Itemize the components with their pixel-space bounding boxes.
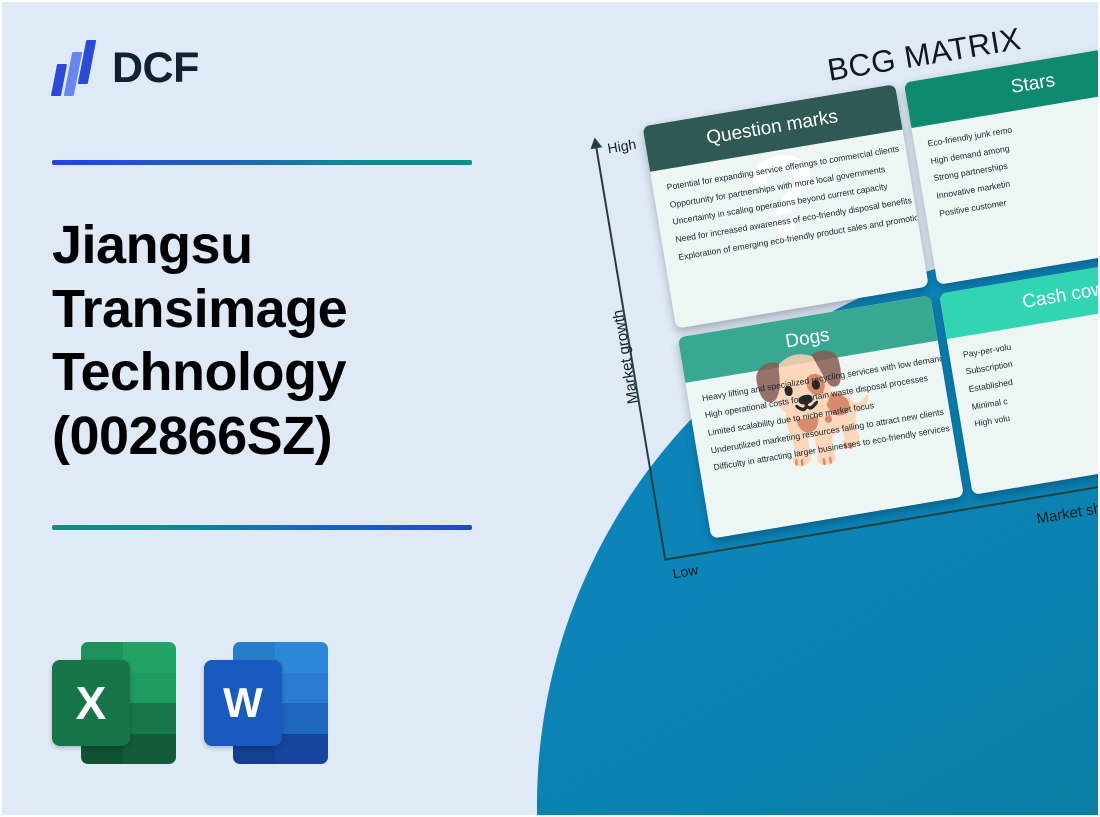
excel-icon[interactable]: X <box>52 642 176 764</box>
brand-logo[interactable]: DCF <box>52 40 199 96</box>
quadrant-cash-cows[interactable]: Cash cows Pay-per-volu Subscription Esta… <box>939 251 1100 495</box>
quadrant-stars[interactable]: Stars Eco-friendly junk remo High demand… <box>903 41 1100 285</box>
y-axis-high-label: High <box>606 136 637 157</box>
cover-page: DCF Jiangsu Transimage Technology (00286… <box>0 0 1100 817</box>
page-title: Jiangsu Transimage Technology (002866SZ) <box>52 214 492 469</box>
left-panel: DCF Jiangsu Transimage Technology (00286… <box>2 2 532 817</box>
bar-chart-logo-icon <box>52 40 98 96</box>
word-icon-letter: W <box>204 660 282 746</box>
word-icon[interactable]: W <box>204 642 328 764</box>
y-axis-low-label: Low <box>671 561 699 581</box>
divider-top <box>52 160 472 165</box>
x-axis-label: Market share <box>1035 496 1100 527</box>
quadrant-dogs[interactable]: Dogs 🐕 Heavy lifting and specialized rec… <box>678 295 964 539</box>
file-format-icons: X W <box>52 642 328 764</box>
y-axis-label: Market growth <box>610 309 642 406</box>
divider-bottom <box>52 525 472 530</box>
quadrant-grid: Question marks ? Potential for expanding… <box>642 41 1100 539</box>
quadrant-question-marks[interactable]: Question marks ? Potential for expanding… <box>642 84 928 328</box>
excel-icon-letter: X <box>52 660 130 746</box>
brand-name: DCF <box>112 47 199 90</box>
